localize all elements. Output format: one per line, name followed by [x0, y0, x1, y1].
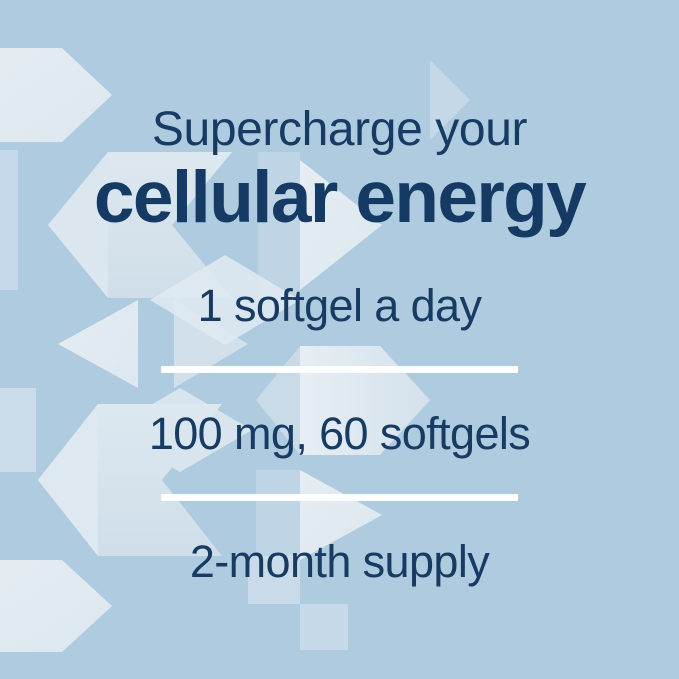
- divider-2: [161, 494, 518, 501]
- headline-line-1: Supercharge your: [0, 106, 679, 154]
- headline: Supercharge your cellular energy: [0, 106, 679, 236]
- content-stack: Supercharge your cellular energy 1 softg…: [0, 0, 679, 679]
- divider-1: [161, 366, 518, 373]
- headline-line-2: cellular energy: [0, 159, 679, 236]
- fact-strength-count: 100 mg, 60 softgels: [0, 411, 679, 456]
- promotional-banner: Supercharge your cellular energy 1 softg…: [0, 0, 679, 679]
- fact-dosage: 1 softgel a day: [0, 283, 679, 328]
- fact-supply-duration: 2-month supply: [0, 539, 679, 584]
